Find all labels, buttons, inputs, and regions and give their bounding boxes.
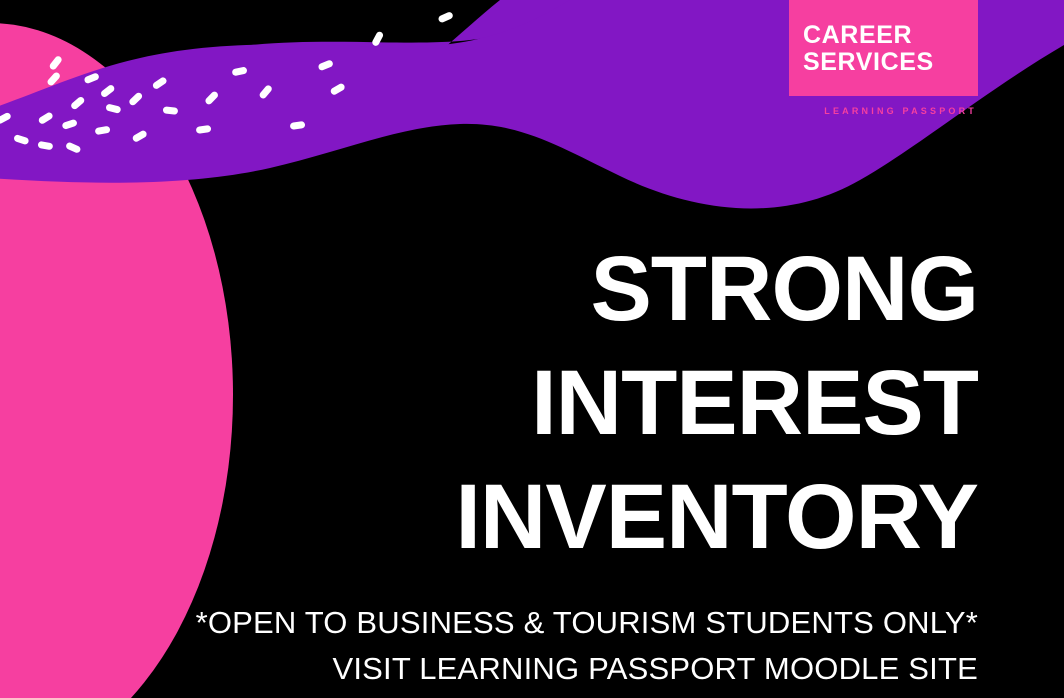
headline-line-inventory: INVENTORY [278, 460, 978, 574]
subcopy-call-to-action: VISIT LEARNING PASSPORT MOODLE SITE [178, 646, 978, 692]
pink-ellipse-shape [0, 23, 233, 698]
white-dash-confetti [0, 11, 454, 154]
logo-tagline: LEARNING PASSPORT [789, 105, 978, 117]
purple-wave-ribbon-upper [0, 0, 660, 168]
subcopy-eligibility-note: *OPEN TO BUSINESS & TOURISM STUDENTS ONL… [178, 600, 978, 646]
headline-line-strong: STRONG [278, 232, 978, 346]
career-services-logo: CAREER SERVICES LEARNING PASSPORT [789, 0, 978, 117]
poster-subcopy: *OPEN TO BUSINESS & TOURISM STUDENTS ONL… [178, 600, 978, 692]
logo-line-career: CAREER [789, 22, 978, 49]
poster-canvas: CAREER SERVICES LEARNING PASSPORT STRONG… [0, 0, 1064, 698]
logo-pink-box: CAREER SERVICES [789, 0, 978, 96]
logo-line-services: SERVICES [789, 49, 978, 76]
headline-line-interest: INTEREST [278, 346, 978, 460]
poster-headline: STRONG INTEREST INVENTORY [278, 232, 978, 574]
